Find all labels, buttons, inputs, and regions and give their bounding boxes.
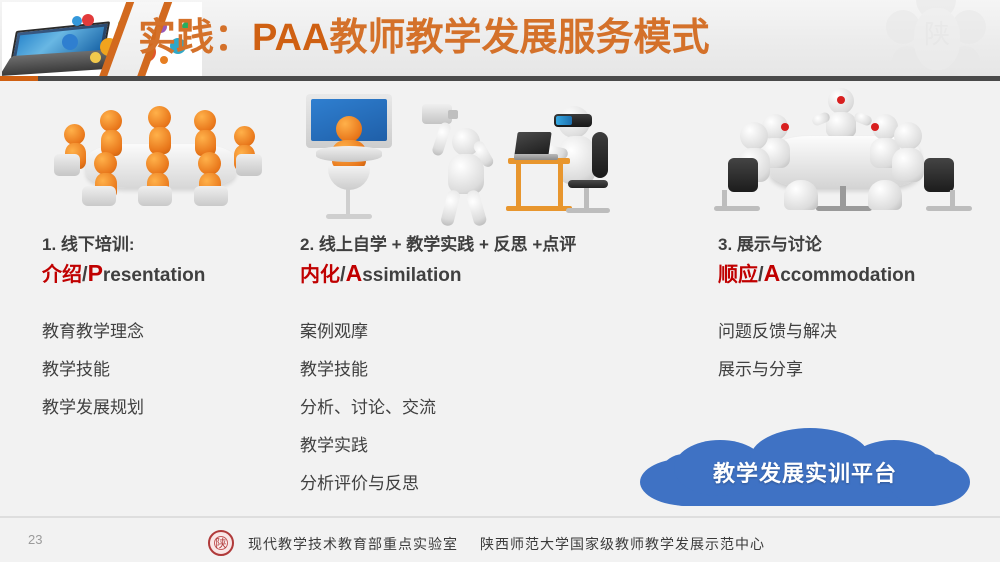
slide: 实践：PAA教师教学发展服务模式 陕 [0,0,1000,562]
page-title-paa: PAA [252,17,329,59]
column-heading-en-rest: ccommodation [780,265,915,286]
column-heading-1: 1. 线下培训: 介绍/Presentation [42,232,292,291]
column-heading-en-cap: A [764,260,781,286]
slide-header: 实践：PAA教师教学发展服务模式 陕 [0,0,1000,80]
column-presentation: 1. 线下培训: 介绍/Presentation 教育教学理念 教学技能 教学发… [42,92,292,427]
column-accommodation: 3. 展示与讨论 顺应/Accommodation 问题反馈与解决 展示与分享 [718,92,994,389]
column-heading-3: 3. 展示与讨论 顺应/Accommodation [718,232,994,291]
list-item: 教学技能 [42,351,292,389]
page-number: 23 [28,532,42,547]
page-title-prefix: 实践： [138,17,252,59]
online-study-camera-vr-figures-icon [300,92,700,222]
footer-divider [0,516,1000,518]
column-heading-cn: 内化 [300,264,340,286]
column-heading-en-cap: P [88,260,103,286]
discussion-table-white-figures-icon [718,92,994,222]
platform-callout-cloud[interactable]: 教学发展实训平台 [640,432,970,510]
footer-organizations: 现代教学技术教育部重点实验室陕西师范大学国家级教师教学发展示范中心 [248,534,765,554]
meeting-table-orange-figures-icon [42,92,292,222]
column-heading-en-rest: resentation [103,265,205,286]
header-divider-accent [0,76,38,81]
column-heading-line2: 顺应/Accommodation [718,258,994,291]
footer-center-name: 陕西师范大学国家级教师教学发展示范中心 [480,537,765,553]
header-divider [0,76,1000,81]
column-heading-line2: 内化/Assimilation [300,258,700,291]
column-heading-2: 2. 线上自学 + 教学实践 + 反思 +点评 内化/Assimilation [300,232,700,291]
watermark-glyph: 陕 [882,14,992,51]
page-title: 实践：PAA教师教学发展服务模式 [138,8,709,68]
footer-lab-name: 现代教学技术教育部重点实验室 [248,537,458,553]
column-heading-line1: 3. 展示与讨论 [718,232,994,258]
seal-glyph: 陕 [210,535,232,551]
page-title-suffix: 教师教学发展服务模式 [329,17,709,59]
column-heading-line2: 介绍/Presentation [42,258,292,291]
column-heading-en-rest: ssimilation [362,265,461,286]
slide-footer: 23 陕 现代教学技术教育部重点实验室陕西师范大学国家级教师教学发展示范中心 [0,516,1000,562]
list-item: 案例观摩 [300,313,700,351]
column-heading-cn: 顺应 [718,264,758,286]
column-heading-cn: 介绍 [42,264,82,286]
column-heading-line1: 2. 线上自学 + 教学实践 + 反思 +点评 [300,232,700,258]
list-item: 教学技能 [300,351,700,389]
list-item: 问题反馈与解决 [718,313,994,351]
column-list-3: 问题反馈与解决 展示与分享 [718,313,994,389]
list-item: 展示与分享 [718,351,994,389]
list-item: 教育教学理念 [42,313,292,351]
column-heading-en-cap: A [346,260,363,286]
column-heading-line1: 1. 线下培训: [42,232,292,258]
platform-callout-label: 教学发展实训平台 [640,456,970,488]
list-item: 教学发展规划 [42,389,292,427]
list-item: 分析、讨论、交流 [300,389,700,427]
university-seal-icon: 陕 [208,530,234,556]
column-list-1: 教育教学理念 教学技能 教学发展规划 [42,313,292,427]
